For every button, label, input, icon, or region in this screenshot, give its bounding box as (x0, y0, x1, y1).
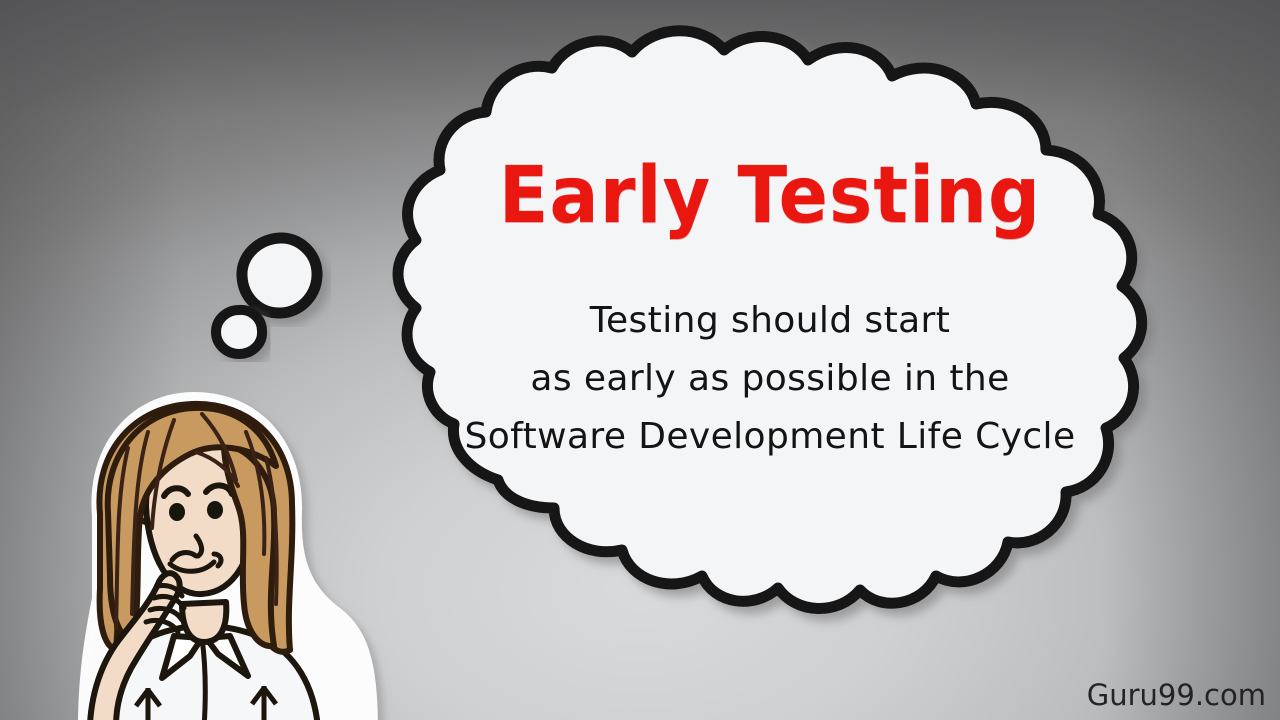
watermark: Guru99.com (1087, 678, 1266, 712)
thought-bubble-small-icon (205, 298, 273, 366)
slide-canvas: Early Testing Testing should start as ea… (0, 0, 1280, 720)
thinking-woman-icon (78, 388, 378, 720)
thought-cloud-icon (330, 18, 1230, 708)
